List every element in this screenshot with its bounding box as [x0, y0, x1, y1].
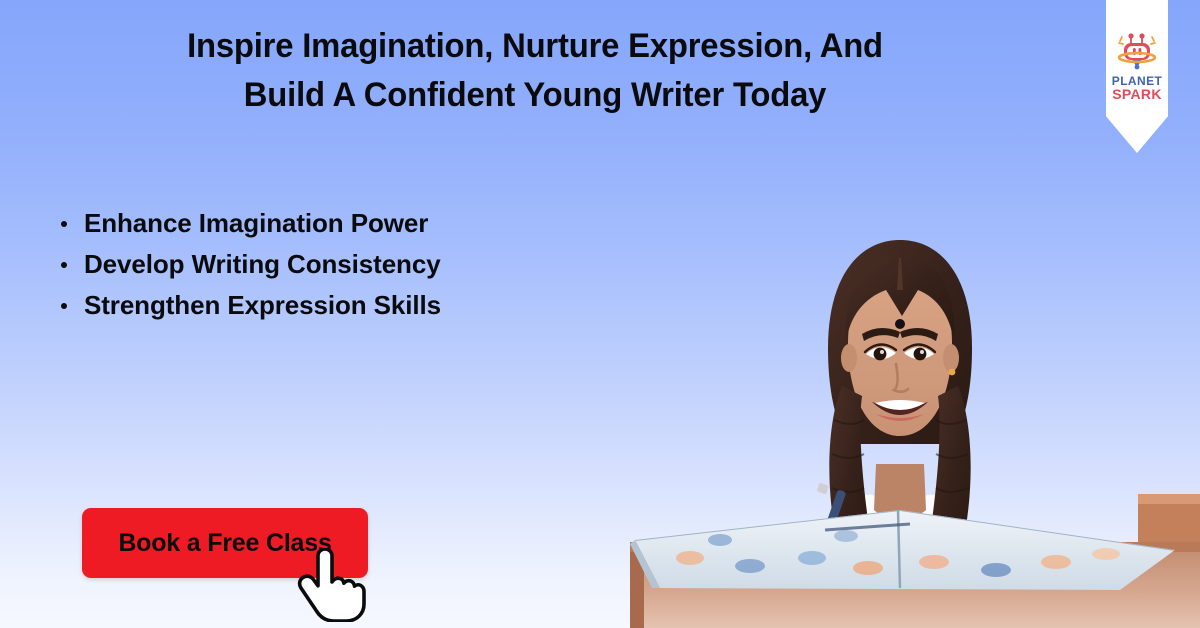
page-title: Inspire Imagination, Nurture Expression,…: [19, 22, 1052, 120]
book-free-class-button[interactable]: Book a Free Class: [82, 508, 368, 578]
list-item-label: Develop Writing Consistency: [84, 249, 441, 279]
brand-wordmark: PLANET SPARK: [1112, 75, 1162, 101]
benefits-list: Enhance Imagination Power Develop Writin…: [58, 203, 441, 326]
bullet-dot-icon: [61, 262, 67, 268]
list-item: Enhance Imagination Power: [58, 203, 441, 244]
list-item-label: Enhance Imagination Power: [84, 208, 428, 238]
list-item: Develop Writing Consistency: [58, 244, 441, 285]
student-photo: [600, 158, 1200, 628]
planetspark-robot-icon: [1116, 32, 1158, 70]
bullet-dot-icon: [61, 303, 67, 309]
list-item: Strengthen Expression Skills: [58, 285, 441, 326]
promo-banner: Inspire Imagination, Nurture Expression,…: [0, 0, 1200, 628]
brand-wordmark-line2: SPARK: [1112, 88, 1162, 101]
list-item-label: Strengthen Expression Skills: [84, 290, 441, 320]
brand-logo-ribbon: PLANET SPARK: [1106, 0, 1168, 153]
bullet-dot-icon: [61, 221, 67, 227]
